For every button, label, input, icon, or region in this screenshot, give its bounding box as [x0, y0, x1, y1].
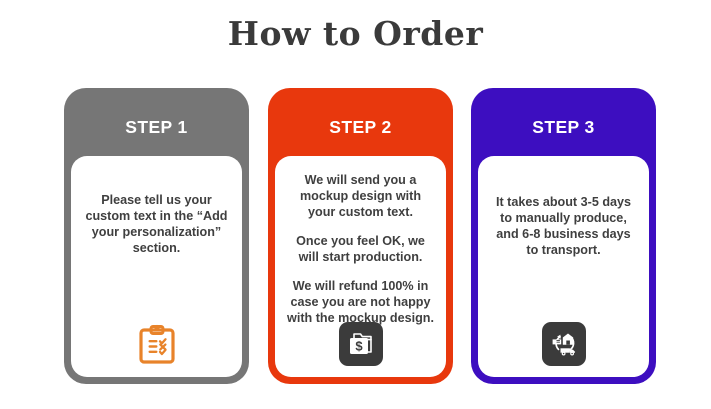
clipboard-checklist-icon [134, 321, 180, 367]
money-folder-icon-tile: $ [339, 322, 383, 366]
step-1-body: Please tell us your custom text in the “… [71, 156, 242, 378]
step-2-paragraph-2: Once you feel OK, we will start producti… [286, 233, 435, 265]
step-3-title: STEP 3 [478, 95, 649, 156]
step-1-paragraph-1: Please tell us your custom text in the “… [82, 192, 231, 256]
step-2-body: We will send you a mockup design with yo… [275, 156, 446, 378]
steps-container: STEP 1 Please tell us your custom text i… [0, 88, 711, 388]
page-title: How to Order [0, 14, 711, 53]
step-1-text: Please tell us your custom text in the “… [82, 192, 231, 256]
step-1-title: STEP 1 [71, 95, 242, 156]
step-card-1[interactable]: STEP 1 Please tell us your custom text i… [64, 88, 249, 384]
delivery-truck-house-icon-tile [542, 322, 586, 366]
money-folder-icon: $ [338, 321, 384, 367]
step-2-paragraph-3: We will refund 100% in case you are not … [286, 278, 435, 326]
step-card-3[interactable]: STEP 3 It takes about 3-5 days to manual… [471, 88, 656, 384]
step-2-paragraph-1: We will send you a mockup design with yo… [286, 172, 435, 220]
step-2-title: STEP 2 [275, 95, 446, 156]
step-card-2[interactable]: STEP 2 We will send you a mockup design … [268, 88, 453, 384]
delivery-truck-house-icon [541, 321, 587, 367]
step-2-text: We will send you a mockup design with yo… [286, 172, 435, 327]
step-3-paragraph-1: It takes about 3-5 days to manually prod… [489, 194, 638, 258]
step-3-body: It takes about 3-5 days to manually prod… [478, 156, 649, 378]
step-3-text: It takes about 3-5 days to manually prod… [489, 194, 638, 258]
svg-text:$: $ [355, 338, 363, 353]
